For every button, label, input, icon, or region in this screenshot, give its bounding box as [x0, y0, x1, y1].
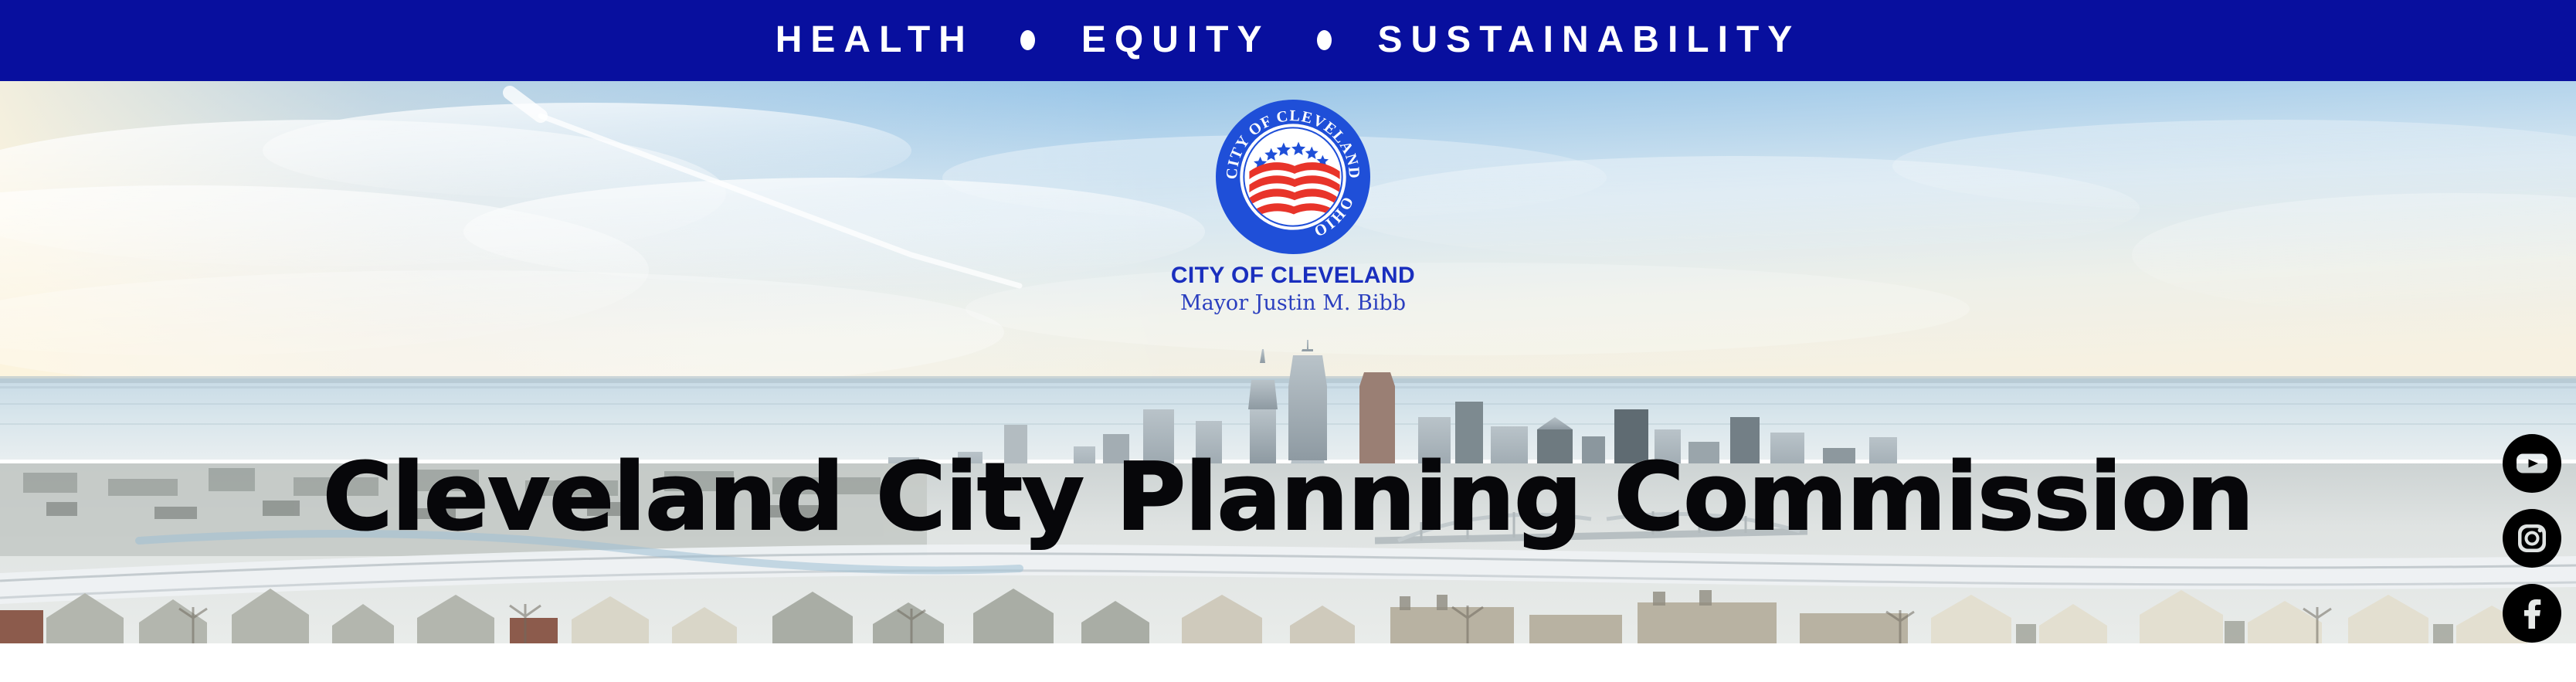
- facebook-icon[interactable]: [2503, 584, 2561, 643]
- city-of-cleveland-seal-icon: CITY OF CLEVELAND OHIO: [1215, 99, 1371, 255]
- tagline-bar: HEALTH EQUITY SUSTAINABILITY: [0, 0, 2576, 81]
- tagline-separator-dot-1: [1020, 30, 1035, 50]
- tagline-separator-dot-2: [1317, 30, 1332, 50]
- site-header-banner: HEALTH EQUITY SUSTAINABILITY CITY OF CLE…: [0, 0, 2576, 682]
- city-wordmark-title: CITY OF CLEVELAND: [1023, 263, 1563, 288]
- city-branding-block[interactable]: CITY OF CLEVELAND OHIO: [1023, 99, 1563, 314]
- tagline-word-health: HEALTH: [776, 22, 974, 59]
- tagline-word-sustainability: SUSTAINABILITY: [1378, 22, 1801, 59]
- mayor-name: Mayor Justin M. Bibb: [1023, 293, 1563, 314]
- social-links-rail[interactable]: [2502, 434, 2562, 643]
- tagline-word-equity: EQUITY: [1081, 22, 1271, 59]
- page-title: Cleveland City Planning Commission: [0, 452, 2576, 545]
- youtube-icon[interactable]: [2503, 434, 2561, 493]
- instagram-icon[interactable]: [2503, 509, 2561, 568]
- footer-white-strip: [0, 643, 2576, 682]
